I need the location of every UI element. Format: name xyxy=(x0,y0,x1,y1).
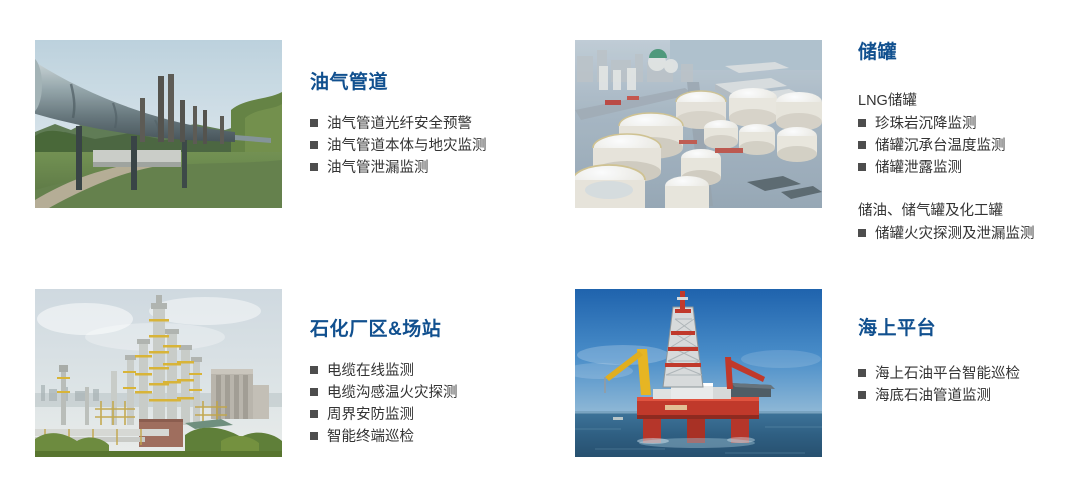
list-item-label: 珍珠岩沉降监测 xyxy=(875,113,977,135)
panel-heading: 油气管道 xyxy=(310,72,550,95)
bullet-square-icon xyxy=(858,369,866,377)
panel-heading: 石化厂区&场站 xyxy=(310,319,550,342)
offshore-platform-photo xyxy=(575,289,822,457)
feature-list: 油气管道光纤安全预警 油气管道本体与地灾监测 油气管泄漏监测 xyxy=(310,113,550,179)
panel-petrochemical-plant: 石化厂区&场站 电缆在线监测 电缆沟感温火灾探测 周界安防监测 智能终端巡检 xyxy=(35,289,550,457)
bullet-square-icon xyxy=(858,229,866,237)
list-item: 储罐沉承台温度监测 xyxy=(858,135,1080,157)
list-item-label: 海上石油平台智能巡检 xyxy=(875,363,1020,385)
bullet-square-icon xyxy=(858,163,866,171)
list-item-label: 油气管泄漏监测 xyxy=(327,157,429,179)
feature-list: 海上石油平台智能巡检 海底石油管道监测 xyxy=(858,363,1080,407)
list-item-label: 油气管道本体与地灾监测 xyxy=(327,135,487,157)
petrochemical-plant-photo xyxy=(35,289,282,457)
list-item-label: 电缆沟感温火灾探测 xyxy=(327,382,458,404)
feature-group: 储油、储气罐及化工罐 储罐火灾探测及泄漏监测 xyxy=(858,200,1080,245)
list-item-label: 电缆在线监测 xyxy=(327,360,414,382)
list-item-label: 周界安防监测 xyxy=(327,404,414,426)
solutions-grid: 油气管道 油气管道光纤安全预警 油气管道本体与地灾监测 油气管泄漏监测 xyxy=(0,0,1092,497)
list-item-label: 智能终端巡检 xyxy=(327,426,414,448)
bullet-square-icon xyxy=(310,410,318,418)
panel-storage-tank: 储罐 LNG储罐 珍珠岩沉降监测 储罐沉承台温度监测 储罐泄露监测 储油、储气罐… xyxy=(575,40,1080,245)
list-item: 油气管道本体与地灾监测 xyxy=(310,135,550,157)
list-item-label: 储罐沉承台温度监测 xyxy=(875,135,1006,157)
bullet-square-icon xyxy=(310,119,318,127)
list-item: 海底石油管道监测 xyxy=(858,385,1080,407)
feature-list: 储罐火灾探测及泄漏监测 xyxy=(858,223,1080,245)
list-item: 周界安防监测 xyxy=(310,404,550,426)
list-item: 储罐泄露监测 xyxy=(858,157,1080,179)
pipeline-photo xyxy=(35,40,282,208)
bullet-square-icon xyxy=(310,163,318,171)
feature-groups: LNG储罐 珍珠岩沉降监测 储罐沉承台温度监测 储罐泄露监测 储油、储气罐及化工… xyxy=(858,90,1080,245)
bullet-square-icon xyxy=(858,391,866,399)
bullet-square-icon xyxy=(310,141,318,149)
bullet-square-icon xyxy=(310,432,318,440)
bullet-square-icon xyxy=(858,141,866,149)
panel-content: 油气管道 油气管道光纤安全预警 油气管道本体与地灾监测 油气管泄漏监测 xyxy=(310,40,550,179)
list-item: 储罐火灾探测及泄漏监测 xyxy=(858,223,1080,245)
panel-content: 储罐 LNG储罐 珍珠岩沉降监测 储罐沉承台温度监测 储罐泄露监测 储油、储气罐… xyxy=(858,40,1080,245)
list-item: 电缆沟感温火灾探测 xyxy=(310,382,550,404)
bullet-square-icon xyxy=(858,119,866,127)
list-item: 油气管泄漏监测 xyxy=(310,157,550,179)
group-subheading: 储油、储气罐及化工罐 xyxy=(858,200,1080,222)
panel-offshore-platform: 海上平台 海上石油平台智能巡检 海底石油管道监测 xyxy=(575,289,1080,457)
list-item: 电缆在线监测 xyxy=(310,360,550,382)
panel-oil-gas-pipeline: 油气管道 油气管道光纤安全预警 油气管道本体与地灾监测 油气管泄漏监测 xyxy=(35,40,550,208)
bullet-square-icon xyxy=(310,366,318,374)
panel-content: 海上平台 海上石油平台智能巡检 海底石油管道监测 xyxy=(858,289,1080,407)
feature-list: 电缆在线监测 电缆沟感温火灾探测 周界安防监测 智能终端巡检 xyxy=(310,360,550,448)
panel-content: 石化厂区&场站 电缆在线监测 电缆沟感温火灾探测 周界安防监测 智能终端巡检 xyxy=(310,289,550,448)
list-item: 油气管道光纤安全预警 xyxy=(310,113,550,135)
panel-heading: 储罐 xyxy=(858,42,1080,65)
feature-list: 珍珠岩沉降监测 储罐沉承台温度监测 储罐泄露监测 xyxy=(858,113,1080,179)
feature-group: LNG储罐 珍珠岩沉降监测 储罐沉承台温度监测 储罐泄露监测 xyxy=(858,90,1080,179)
list-item: 智能终端巡检 xyxy=(310,426,550,448)
bullet-square-icon xyxy=(310,388,318,396)
list-item-label: 油气管道光纤安全预警 xyxy=(327,113,472,135)
list-item-label: 海底石油管道监测 xyxy=(875,385,991,407)
storage-tank-photo xyxy=(575,40,822,208)
panel-heading: 海上平台 xyxy=(858,318,1080,341)
list-item: 珍珠岩沉降监测 xyxy=(858,113,1080,135)
list-item-label: 储罐火灾探测及泄漏监测 xyxy=(875,223,1035,245)
group-subheading: LNG储罐 xyxy=(858,90,1080,112)
list-item: 海上石油平台智能巡检 xyxy=(858,363,1080,385)
list-item-label: 储罐泄露监测 xyxy=(875,157,962,179)
